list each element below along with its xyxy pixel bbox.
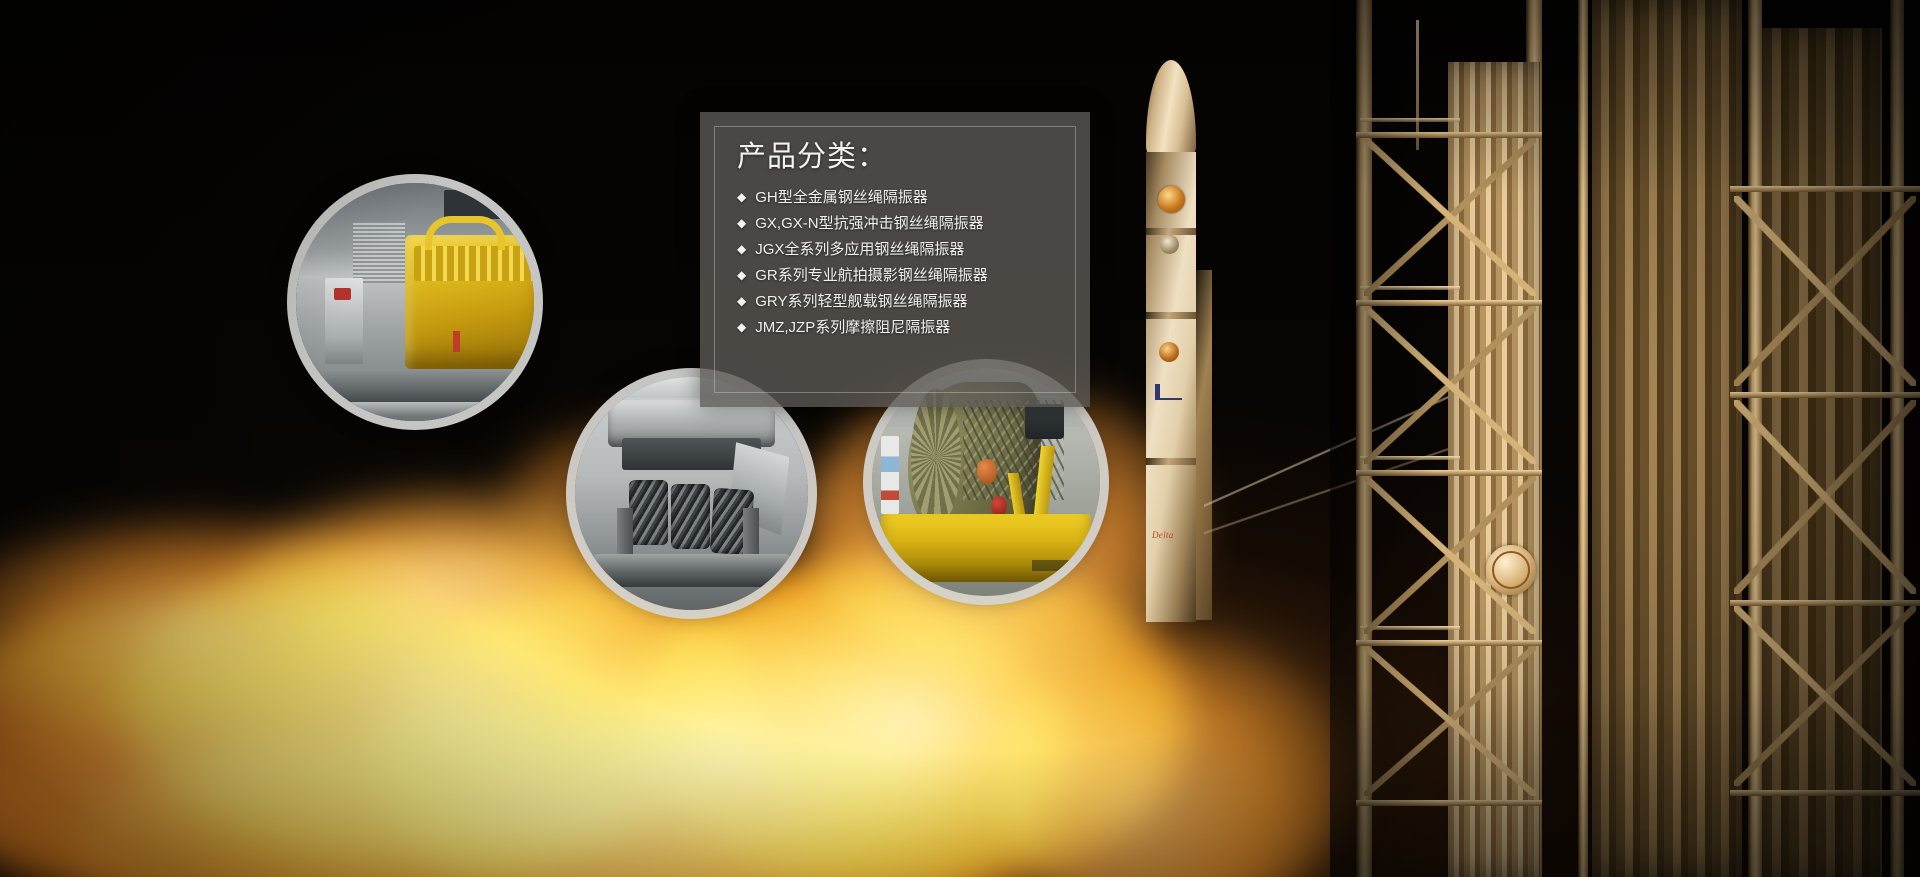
list-item[interactable]: ◆ JGX全系列多应用钢丝绳隔振器 bbox=[737, 242, 1055, 257]
list-item[interactable]: ◆ GX,GX-N型抗强冲击钢丝绳隔振器 bbox=[737, 216, 1055, 231]
diamond-bullet-icon: ◆ bbox=[737, 269, 746, 281]
list-item-label: GRY系列轻型舰载钢丝绳隔振器 bbox=[755, 294, 967, 309]
panel-title: 产品分类： bbox=[737, 141, 1055, 174]
rocket-body-label: Delta bbox=[1152, 530, 1192, 542]
diamond-bullet-icon: ◆ bbox=[737, 321, 746, 333]
list-item[interactable]: ◆ JMZ,JZP系列摩擦阻尼隔振器 bbox=[737, 320, 1055, 335]
diamond-bullet-icon: ◆ bbox=[737, 243, 746, 255]
product-category-banner: Delta bbox=[0, 0, 1920, 877]
rocket-icon: Delta bbox=[1138, 60, 1204, 620]
usa-flag-icon bbox=[1155, 384, 1182, 400]
list-item-label: JMZ,JZP系列摩擦阻尼隔振器 bbox=[755, 320, 950, 335]
list-item[interactable]: ◆ GRY系列轻型舰载钢丝绳隔振器 bbox=[737, 294, 1055, 309]
list-item-label: JGX全系列多应用钢丝绳隔振器 bbox=[755, 242, 964, 257]
list-item[interactable]: ◆ GR系列专业航拍摄影钢丝绳隔振器 bbox=[737, 268, 1055, 283]
list-item-label: GH型全金属钢丝绳隔振器 bbox=[755, 190, 928, 205]
launch-tower bbox=[1330, 0, 1920, 877]
list-item-label: GR系列专业航拍摄影钢丝绳隔振器 bbox=[755, 268, 988, 283]
product-category-list: ◆ GH型全金属钢丝绳隔振器 ◆ GX,GX-N型抗强冲击钢丝绳隔振器 ◆ JG… bbox=[737, 190, 1055, 335]
thumbnail-diesel-generator[interactable] bbox=[296, 183, 534, 421]
diamond-bullet-icon: ◆ bbox=[737, 217, 746, 229]
product-category-panel: 产品分类： ◆ GH型全金属钢丝绳隔振器 ◆ GX,GX-N型抗强冲击钢丝绳隔振… bbox=[700, 112, 1090, 407]
diamond-bullet-icon: ◆ bbox=[737, 191, 746, 203]
list-item-label: GX,GX-N型抗强冲击钢丝绳隔振器 bbox=[755, 216, 983, 231]
thumbnail-wire-rope-isolator[interactable] bbox=[575, 377, 808, 610]
panel-inner-frame: 产品分类： ◆ GH型全金属钢丝绳隔振器 ◆ GX,GX-N型抗强冲击钢丝绳隔振… bbox=[714, 126, 1076, 393]
list-item[interactable]: ◆ GH型全金属钢丝绳隔振器 bbox=[737, 190, 1055, 205]
tower-emblem-icon bbox=[1486, 545, 1536, 595]
diamond-bullet-icon: ◆ bbox=[737, 295, 746, 307]
